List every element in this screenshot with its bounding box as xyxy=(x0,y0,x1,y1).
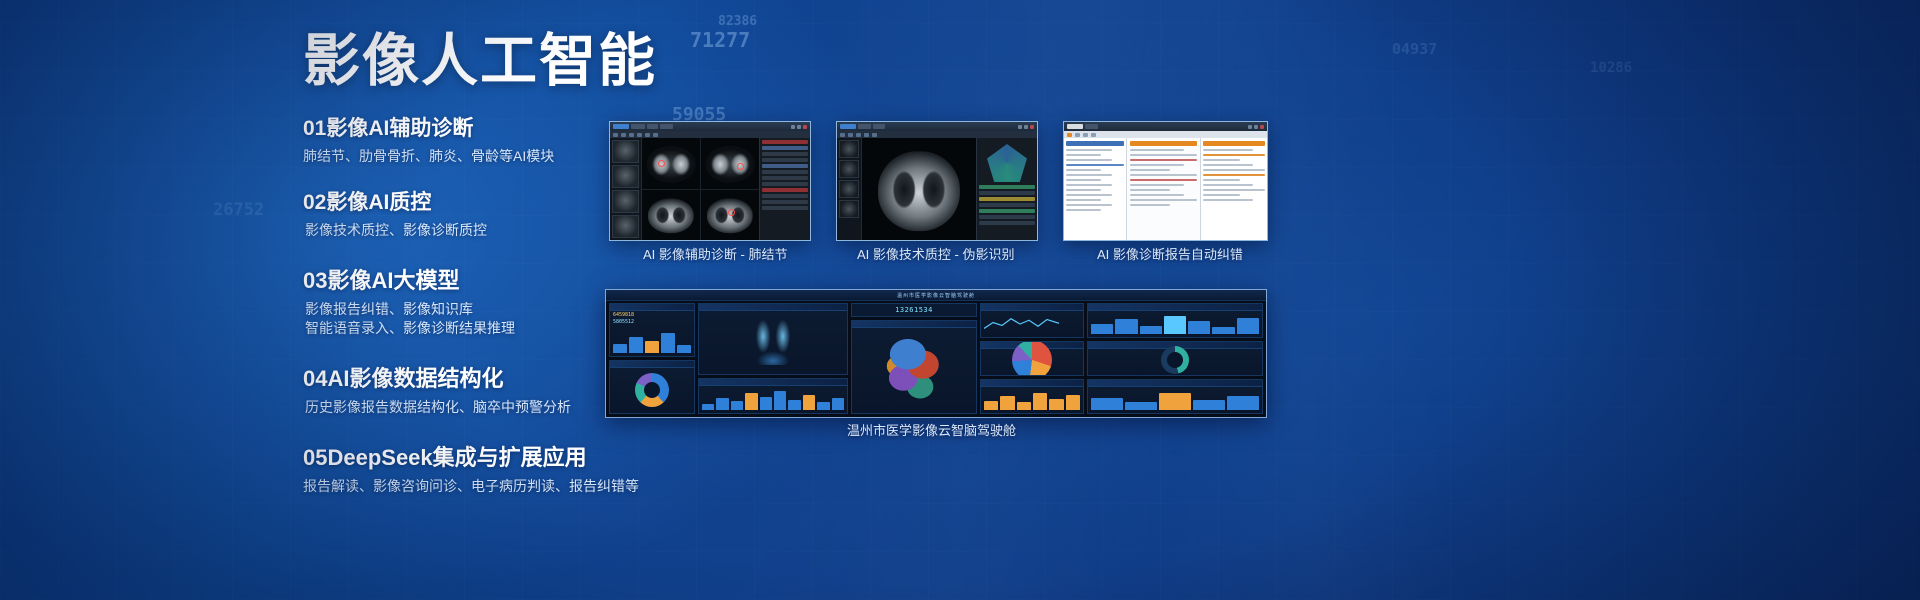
report-text-line xyxy=(1130,199,1197,201)
series-thumbnail-panel[interactable] xyxy=(610,138,642,240)
bar xyxy=(629,337,643,353)
series-thumbnail[interactable] xyxy=(839,140,859,158)
ct-viewport-coronal[interactable] xyxy=(642,190,700,241)
suggestion-row[interactable] xyxy=(1203,169,1265,171)
worklist-row[interactable] xyxy=(1066,154,1101,156)
panel-summary-bars[interactable] xyxy=(1087,379,1263,414)
page-title: 影像人工智能 xyxy=(303,33,657,90)
banner-stage: 82386 71277 59055 26752 04937 10286 影像人工… xyxy=(0,0,1920,600)
ring-chart xyxy=(1161,346,1189,374)
report-editor-header xyxy=(1130,141,1197,146)
worklist-row[interactable] xyxy=(1066,169,1101,171)
report-text-line xyxy=(1130,149,1184,151)
panel-region-map[interactable] xyxy=(851,320,977,414)
series-thumbnail-panel[interactable] xyxy=(837,138,862,240)
report-text-line xyxy=(1130,204,1170,206)
report-error-highlight xyxy=(1130,179,1197,181)
suggestion-row[interactable] xyxy=(1203,179,1240,181)
panel-header xyxy=(981,380,1083,387)
dashboard-caption: 温州市医学影像云智脑驾驶舱 xyxy=(847,420,1016,439)
dashboard-grid: 6459818 5805512 xyxy=(606,300,1266,417)
qc-metric-row[interactable] xyxy=(979,191,1035,195)
panel-kpi-counter[interactable]: 13261534 xyxy=(851,303,977,317)
report-body xyxy=(1064,138,1267,240)
app-logo-icon xyxy=(1067,124,1083,129)
maximize-icon[interactable] xyxy=(797,125,801,129)
dashboard-column-left: 6459818 5805512 xyxy=(609,303,695,414)
bar xyxy=(1140,326,1162,334)
dashboard-column-center: 13261534 xyxy=(851,303,977,414)
toolbar-icon[interactable] xyxy=(864,133,869,137)
toolbar-icon[interactable] xyxy=(621,133,626,137)
series-thumbnail[interactable] xyxy=(839,180,859,198)
bar xyxy=(1049,399,1063,410)
bar xyxy=(1227,396,1259,410)
qc-metric-row[interactable] xyxy=(979,203,1035,207)
bar xyxy=(1193,400,1225,410)
screenshot-card-report-correction[interactable] xyxy=(1063,121,1268,241)
qc-metric-row[interactable] xyxy=(979,185,1035,189)
panel-header xyxy=(981,304,1083,311)
worklist-row[interactable] xyxy=(1066,194,1112,196)
qc-metric-row[interactable] xyxy=(979,215,1035,219)
worklist-row[interactable] xyxy=(1066,199,1101,201)
panel-header xyxy=(610,361,694,368)
qc-metric-row[interactable] xyxy=(979,197,1035,201)
suggestion-row[interactable] xyxy=(1203,189,1265,191)
worklist-panel[interactable] xyxy=(1064,138,1127,240)
toolbar-icon[interactable] xyxy=(1083,133,1088,137)
minimize-icon[interactable] xyxy=(1248,125,1252,129)
report-text-line xyxy=(1130,164,1184,166)
metric-values: 6459818 5805512 xyxy=(613,312,634,326)
suggestion-row[interactable] xyxy=(1203,194,1240,196)
bar xyxy=(1115,319,1137,334)
line-chart xyxy=(984,315,1059,333)
finding-row[interactable] xyxy=(762,194,808,198)
lung-window-image xyxy=(706,146,755,182)
feature-heading: 05DeepSeek集成与扩展应用 xyxy=(303,440,723,472)
panel-bar-chart[interactable] xyxy=(698,378,848,414)
worklist-row[interactable] xyxy=(1066,159,1112,161)
chest-ct-image xyxy=(878,151,960,231)
ct-viewport-chest-axial[interactable] xyxy=(862,138,976,240)
screenshot-card-artifact-qc[interactable] xyxy=(836,121,1038,241)
app-logo-icon xyxy=(840,124,856,129)
panel-header xyxy=(699,379,847,386)
bg-number: 82386 xyxy=(718,14,757,29)
ct-viewport-lung-axial-2[interactable] xyxy=(701,138,759,189)
panel-header xyxy=(699,304,847,311)
panel-metric-list[interactable]: 6459818 5805512 xyxy=(609,303,695,357)
bar xyxy=(1017,402,1031,410)
report-text-line xyxy=(1130,169,1170,171)
window-titlebar xyxy=(1064,122,1267,131)
panel-header xyxy=(1088,380,1262,387)
panel-header xyxy=(852,321,976,328)
maximize-icon[interactable] xyxy=(1024,125,1028,129)
bar xyxy=(803,395,815,410)
bar xyxy=(661,333,675,353)
panel-human-body-model[interactable] xyxy=(698,303,848,375)
dashboard-screenshot[interactable]: 温州市医学影像云智脑驾驶舱 6459818 5805512 xyxy=(605,289,1267,418)
close-icon[interactable] xyxy=(803,125,807,129)
window-tab[interactable] xyxy=(873,124,885,129)
bg-number: 26752 xyxy=(213,200,264,220)
window-titlebar xyxy=(837,122,1037,131)
bar xyxy=(817,402,829,410)
finding-row[interactable] xyxy=(762,200,808,204)
bar xyxy=(677,345,691,353)
donut-chart xyxy=(635,373,669,407)
minimize-icon[interactable] xyxy=(791,125,795,129)
bg-number: 04937 xyxy=(1392,40,1437,58)
finding-row[interactable] xyxy=(762,206,808,210)
bar xyxy=(702,404,714,410)
suggestion-row[interactable] xyxy=(1203,164,1253,166)
series-thumbnail[interactable] xyxy=(839,200,859,218)
series-thumbnail[interactable] xyxy=(839,160,859,178)
panel-ring-chart[interactable] xyxy=(1087,341,1263,376)
bar xyxy=(984,401,998,410)
ct-viewport-sagittal[interactable] xyxy=(701,190,759,241)
close-icon[interactable] xyxy=(1260,125,1264,129)
finding-row[interactable] xyxy=(762,152,808,156)
radar-chart-icon xyxy=(987,144,1027,182)
toolbar-icon[interactable] xyxy=(637,133,642,137)
nodule-marker-icon xyxy=(728,209,735,216)
correction-suggestion-panel[interactable] xyxy=(1201,138,1267,240)
worklist-row[interactable] xyxy=(1066,189,1101,191)
mediastinal-window-image xyxy=(648,198,694,233)
metric-value: 6459818 xyxy=(613,312,634,318)
suggestion-row[interactable] xyxy=(1203,159,1240,161)
report-error-highlight xyxy=(1130,159,1197,161)
qc-score-panel[interactable] xyxy=(976,138,1037,240)
worklist-row[interactable] xyxy=(1066,209,1101,211)
bar xyxy=(1066,395,1080,410)
bar xyxy=(832,398,844,410)
panel-donut-chart[interactable] xyxy=(609,360,695,414)
toolbar-icon[interactable] xyxy=(856,133,861,137)
suggestion-row-flagged[interactable] xyxy=(1203,174,1265,176)
bar xyxy=(1159,393,1191,410)
bar xyxy=(1237,318,1259,334)
suggestion-header xyxy=(1203,141,1265,146)
minimize-icon[interactable] xyxy=(1018,125,1022,129)
bar xyxy=(716,398,728,410)
feature-item-05: 05DeepSeek集成与扩展应用 报告解读、影像咨询问诊、电子病历判读、报告纠… xyxy=(303,440,723,496)
window-tab[interactable] xyxy=(1085,124,1098,129)
bar xyxy=(1212,327,1234,334)
ct-viewport-lung-axial[interactable] xyxy=(642,138,700,189)
bar xyxy=(745,393,757,410)
bar xyxy=(1000,396,1014,410)
series-thumbnail[interactable] xyxy=(612,215,639,238)
suggestion-row[interactable] xyxy=(1203,184,1253,186)
finding-row[interactable] xyxy=(762,146,808,150)
region-map-chart xyxy=(876,332,952,406)
series-thumbnail[interactable] xyxy=(612,165,639,188)
toolbar-icon[interactable] xyxy=(653,133,658,137)
suggestion-row[interactable] xyxy=(1203,149,1253,151)
ct-image-grid[interactable] xyxy=(642,138,759,240)
report-editor-panel[interactable] xyxy=(1127,138,1201,240)
qc-metric-row[interactable] xyxy=(979,221,1035,225)
window-tab[interactable] xyxy=(631,124,645,129)
feature-subtitle: 报告解读、影像咨询问诊、电子病历判读、报告纠错等 xyxy=(303,477,723,496)
screenshot-caption-2: AI 影像技术质控 - 伪影识别 xyxy=(857,244,1014,263)
maximize-icon[interactable] xyxy=(1254,125,1258,129)
finding-row[interactable] xyxy=(762,164,808,168)
bar xyxy=(1164,316,1186,334)
toolbar-icon[interactable] xyxy=(1091,133,1096,137)
series-thumbnail[interactable] xyxy=(612,190,639,213)
panel-stacked-bars[interactable] xyxy=(1087,303,1263,338)
worklist-row-selected[interactable] xyxy=(1066,164,1124,166)
mediastinal-window-image xyxy=(707,198,753,233)
report-text-line xyxy=(1130,154,1197,156)
viewer-body xyxy=(837,138,1037,240)
app-logo-icon xyxy=(613,124,629,129)
lung-window-image xyxy=(647,146,696,182)
dashboard-column-right xyxy=(1087,303,1263,414)
finding-row-alert[interactable] xyxy=(762,188,808,192)
screenshot-card-lung-nodule[interactable] xyxy=(609,121,811,241)
window-tab[interactable] xyxy=(647,124,658,129)
finding-row[interactable] xyxy=(762,158,808,162)
panel-pie-chart[interactable] xyxy=(980,341,1084,376)
worklist-row[interactable] xyxy=(1066,174,1112,176)
bar xyxy=(1188,321,1210,334)
report-text-line xyxy=(1130,194,1184,196)
window-tab[interactable] xyxy=(660,124,673,129)
panel-header xyxy=(610,304,694,311)
toolbar-icon[interactable] xyxy=(1067,133,1072,137)
worklist-row[interactable] xyxy=(1066,184,1112,186)
bar xyxy=(1091,324,1113,335)
suggestion-row[interactable] xyxy=(1203,199,1253,201)
bar xyxy=(645,341,659,353)
worklist-header xyxy=(1066,141,1124,146)
toolbar-icon[interactable] xyxy=(840,133,845,137)
qc-metric-row[interactable] xyxy=(979,209,1035,213)
toolbar-icon[interactable] xyxy=(848,133,853,137)
bar xyxy=(1033,393,1047,410)
bg-number: 71277 xyxy=(690,28,750,52)
metric-value: 5805512 xyxy=(613,319,634,325)
human-body-visualization xyxy=(744,313,802,365)
panel-trend-bars[interactable] xyxy=(980,379,1084,414)
finding-row[interactable] xyxy=(762,170,808,174)
window-tab[interactable] xyxy=(858,124,871,129)
report-layout xyxy=(1064,138,1267,240)
findings-header xyxy=(762,140,808,144)
report-text-line xyxy=(1130,184,1184,186)
panel-line-chart[interactable] xyxy=(980,303,1084,338)
toolbar-icon[interactable] xyxy=(1075,133,1080,137)
bar xyxy=(731,401,743,410)
suggestion-row-flagged[interactable] xyxy=(1203,154,1265,156)
bar xyxy=(613,344,627,353)
finding-row[interactable] xyxy=(762,182,808,186)
dashboard-column-center-left xyxy=(698,303,848,414)
pie-chart xyxy=(1012,341,1052,376)
report-text-line xyxy=(1130,174,1197,176)
toolbar-icon[interactable] xyxy=(872,133,877,137)
bar xyxy=(774,391,786,410)
bar xyxy=(1125,402,1157,410)
window-titlebar xyxy=(610,122,810,131)
panel-header xyxy=(1088,304,1262,311)
bar xyxy=(1091,398,1123,410)
bg-number: 10286 xyxy=(1590,60,1632,76)
worklist-row[interactable] xyxy=(1066,204,1112,206)
dashboard-column-center-right xyxy=(980,303,1084,414)
screenshot-caption-3: AI 影像诊断报告自动纠错 xyxy=(1097,244,1243,263)
toolbar-icon[interactable] xyxy=(613,133,618,137)
worklist-row[interactable] xyxy=(1066,149,1112,151)
series-thumbnail[interactable] xyxy=(612,140,639,163)
ai-findings-panel[interactable] xyxy=(759,138,810,240)
bar xyxy=(788,400,800,410)
viewer-body xyxy=(610,138,810,240)
screenshot-caption-1: AI 影像辅助诊断 - 肺结节 xyxy=(643,244,787,263)
toolbar-icon[interactable] xyxy=(645,133,650,137)
finding-row[interactable] xyxy=(762,176,808,180)
kpi-value: 13261534 xyxy=(852,306,976,314)
toolbar-icon[interactable] xyxy=(629,133,634,137)
bar xyxy=(760,397,772,410)
worklist-row[interactable] xyxy=(1066,179,1101,181)
close-icon[interactable] xyxy=(1030,125,1034,129)
report-text-line xyxy=(1130,189,1170,191)
